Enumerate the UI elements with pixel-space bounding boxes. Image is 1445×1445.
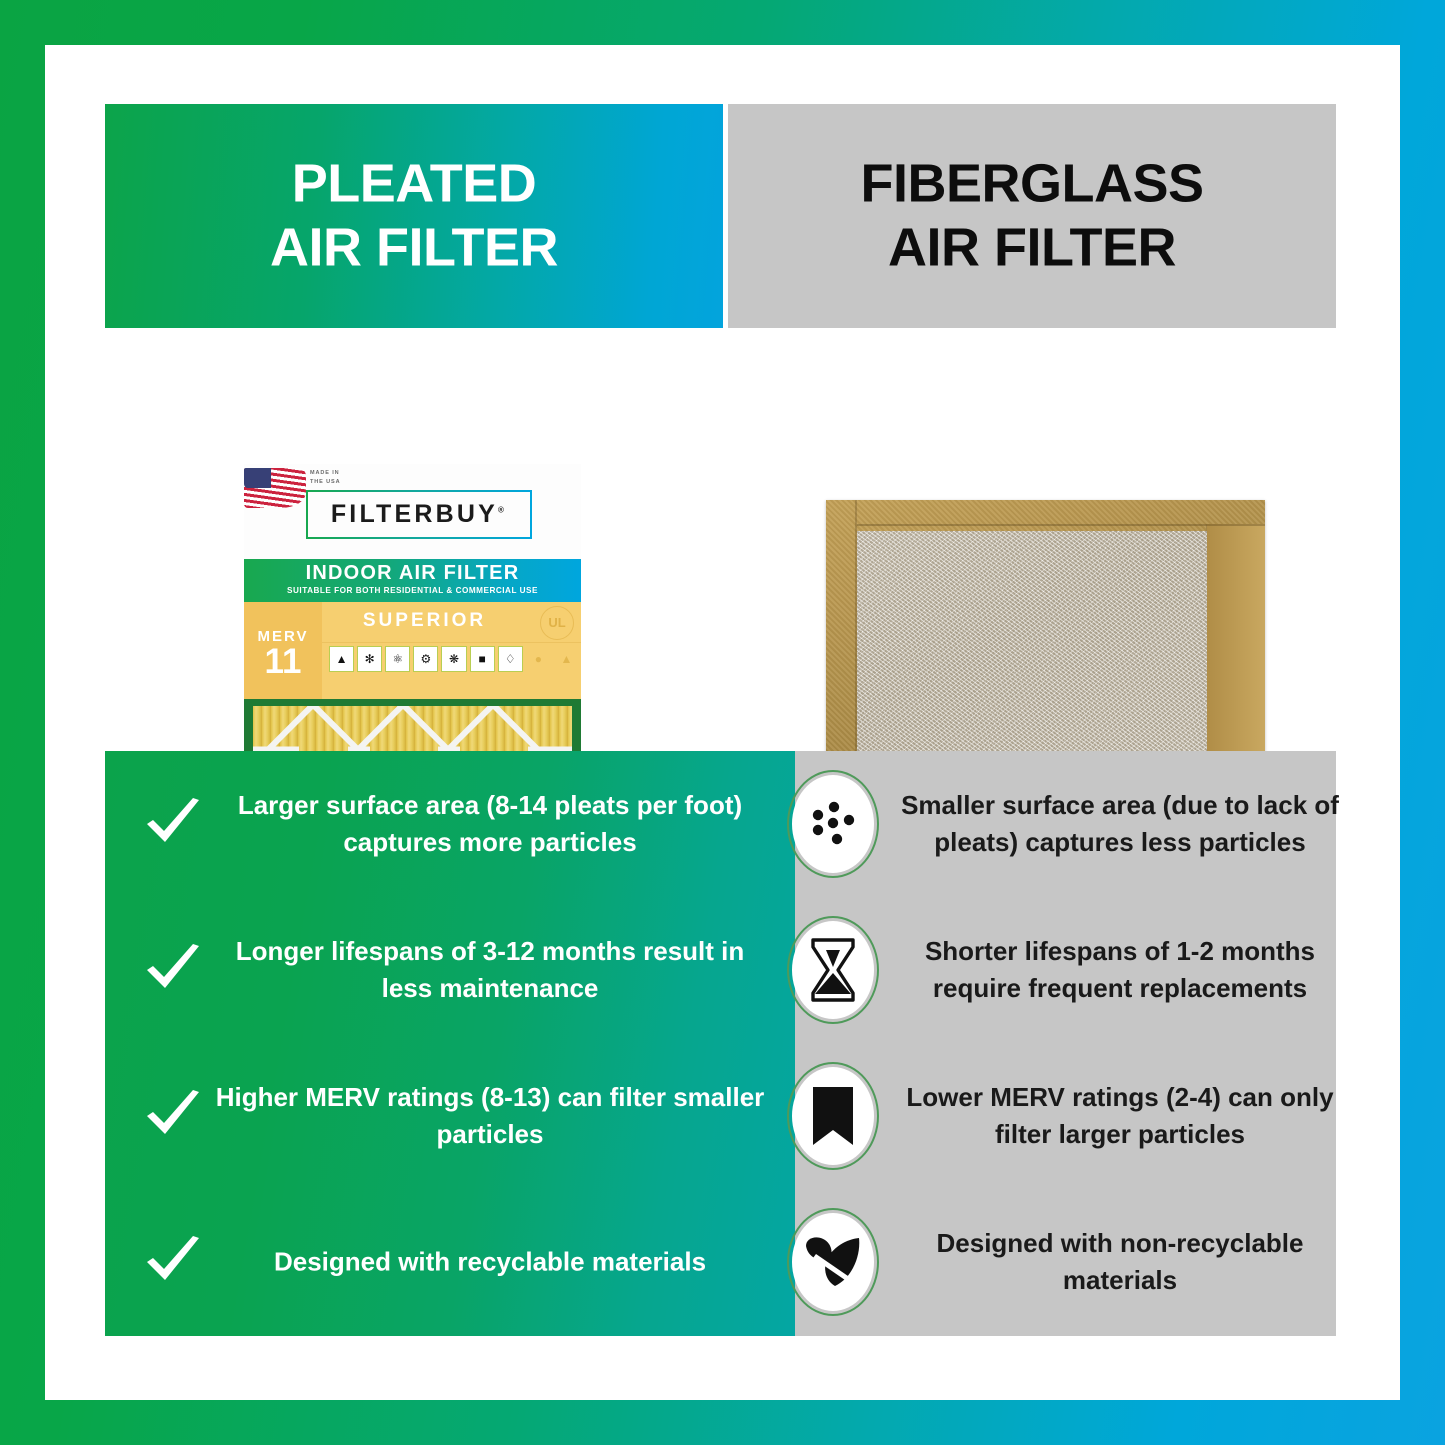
fiberglass-filter-photo [826, 500, 1265, 788]
pleated-title: PLEATED AIR FILTER [105, 152, 723, 279]
row-right-text: Lower MERV ratings (2-4) can only filter… [885, 1079, 1355, 1153]
pet-dander-icon: ■ [470, 646, 495, 672]
pleated-title-line2: AIR FILTER [105, 216, 723, 280]
header-bar: PLEATED AIR FILTER FIBERGLASS AIR FILTER [105, 104, 1336, 328]
brand-name: FILTERBUY® [331, 500, 507, 529]
row-right-text: Shorter lifespans of 1-2 months require … [885, 933, 1355, 1007]
row-right-text: Designed with non-recyclable materials [885, 1225, 1355, 1299]
header-pleated: PLEATED AIR FILTER [105, 104, 723, 328]
tier-bar: SUPERIOR UL [322, 602, 581, 643]
banner-line1: INDOOR AIR FILTER [244, 559, 581, 585]
brand-logo-frame: FILTERBUY® [306, 490, 532, 539]
cardboard-top-seam [857, 524, 1265, 526]
comparison-row: Designed with recyclable materials Desig… [105, 1189, 1336, 1335]
made-in-line1: MADE IN [310, 469, 340, 478]
icon-disc [792, 1213, 874, 1311]
pollen-icon: ❋ [441, 646, 466, 672]
insect-icon: ✻ [357, 646, 382, 672]
header-fiberglass: FIBERGLASS AIR FILTER [728, 104, 1336, 328]
feature-icon-strip: ▲ ✻ ⚛ ⚙ ❋ ■ ♢ ● ▲ [329, 646, 579, 692]
mold-icon: ⚛ [385, 646, 410, 672]
banner-line2: SUITABLE FOR BOTH RESIDENTIAL & COMMERCI… [244, 585, 581, 595]
indoor-air-filter-banner: INDOOR AIR FILTER SUITABLE FOR BOTH RESI… [244, 559, 581, 602]
merv-badge: MERV 11 [244, 602, 322, 699]
icon-disc [792, 1067, 874, 1165]
infographic-content: PLEATED AIR FILTER FIBERGLASS AIR FILTER… [105, 104, 1336, 1336]
tier-label: SUPERIOR [322, 610, 527, 632]
box-top-section: MADE IN THE USA FILTERBUY® [244, 464, 581, 559]
fiberglass-title-line1: FIBERGLASS [728, 152, 1336, 216]
outer-gradient-frame: PLEATED AIR FILTER FIBERGLASS AIR FILTER… [0, 0, 1445, 1445]
merv-label: MERV [244, 602, 322, 645]
ul-certification-icon: UL [540, 606, 574, 640]
fiberglass-title: FIBERGLASS AIR FILTER [728, 152, 1336, 279]
made-in-line2: THE USA [310, 478, 340, 487]
row-left-text: Longer lifespans of 3-12 months result i… [210, 933, 770, 1007]
icon-disc [792, 775, 874, 873]
comparison-row: Higher MERV ratings (8-13) can filter sm… [105, 1043, 1336, 1189]
ghost-icon-1: ● [526, 646, 551, 672]
row-right-text: Smaller surface area (due to lack of ple… [885, 787, 1355, 861]
row-left-text: Designed with recyclable materials [210, 1244, 770, 1281]
cardboard-right-edge [1206, 524, 1265, 788]
fiberglass-media [857, 531, 1207, 752]
particles-icon [787, 770, 879, 878]
hourglass-icon [787, 916, 879, 1024]
bookmark-icon [787, 1062, 879, 1170]
smoke-icon: ♢ [498, 646, 523, 672]
icon-disc [792, 921, 874, 1019]
product-image-row: MADE IN THE USA FILTERBUY® INDOOR AIR FI… [105, 328, 1336, 751]
checkmark-icon [143, 1232, 203, 1292]
row-left-text: Higher MERV ratings (8-13) can filter sm… [210, 1079, 770, 1153]
ghost-icon-2: ▲ [554, 646, 579, 672]
leaf-icon [787, 1208, 879, 1316]
comparison-row: Larger surface area (8-14 pleats per foo… [105, 751, 1336, 897]
usa-flag-icon [244, 468, 306, 508]
row-left-text: Larger surface area (8-14 pleats per foo… [210, 787, 770, 861]
checkmark-icon [143, 940, 203, 1000]
comparison-row: Longer lifespans of 3-12 months result i… [105, 897, 1336, 1043]
pleated-title-line1: PLEATED [105, 152, 723, 216]
checkmark-icon [143, 794, 203, 854]
fiberglass-title-line2: AIR FILTER [728, 216, 1336, 280]
checkmark-icon [143, 1086, 203, 1146]
merv-value: 11 [244, 645, 322, 678]
dust-icon: ▲ [329, 646, 354, 672]
merv-section: MERV 11 SUPERIOR UL ▲ ✻ ⚛ ⚙ ❋ ■ ♢ [244, 602, 581, 699]
comparison-panel: Larger surface area (8-14 pleats per foo… [105, 751, 1336, 1336]
bacteria-icon: ⚙ [413, 646, 438, 672]
made-in-usa-text: MADE IN THE USA [310, 469, 340, 488]
